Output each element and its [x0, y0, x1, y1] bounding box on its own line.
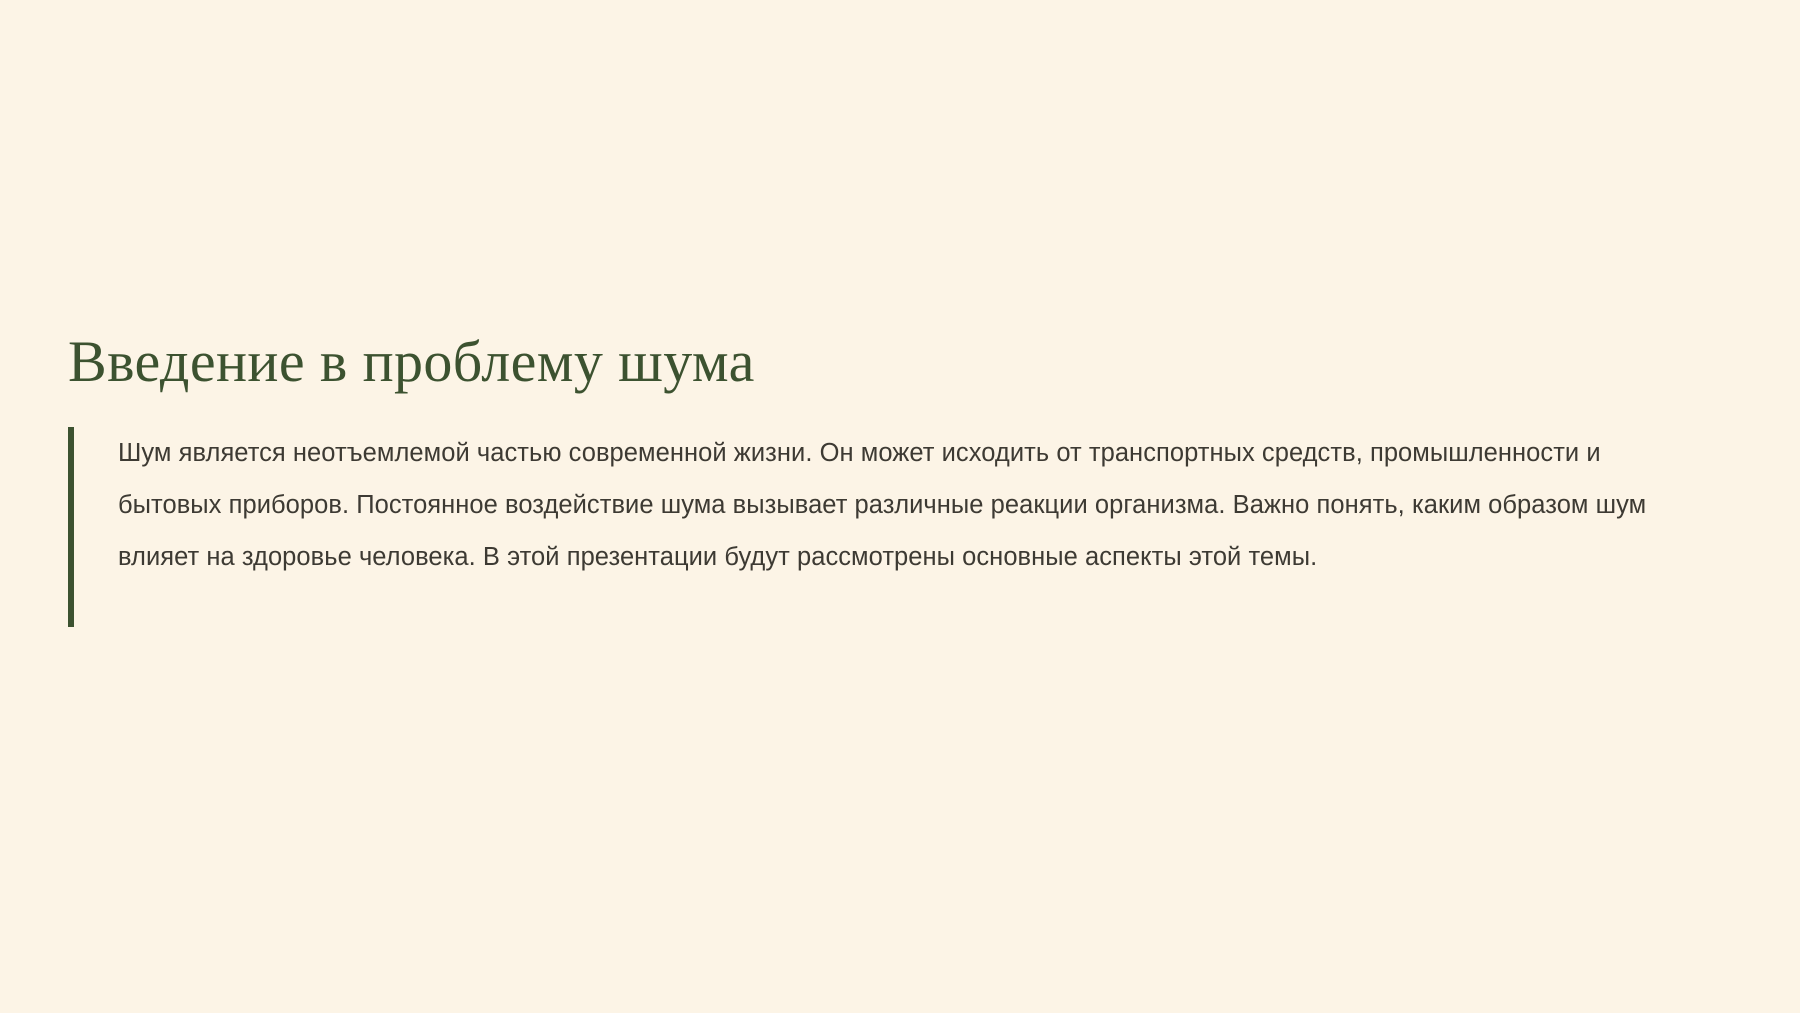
slide-content: Введение в проблему шума Шум является не…: [68, 330, 1708, 627]
body-callout: Шум является неотъемлемой частью совреме…: [68, 427, 1708, 627]
slide-canvas: Введение в проблему шума Шум является не…: [0, 0, 1800, 1013]
page-title: Введение в проблему шума: [68, 330, 1708, 395]
body-paragraph: Шум является неотъемлемой частью совреме…: [118, 427, 1663, 583]
body-text-container: Шум является неотъемлемой частью совреме…: [74, 427, 1708, 627]
